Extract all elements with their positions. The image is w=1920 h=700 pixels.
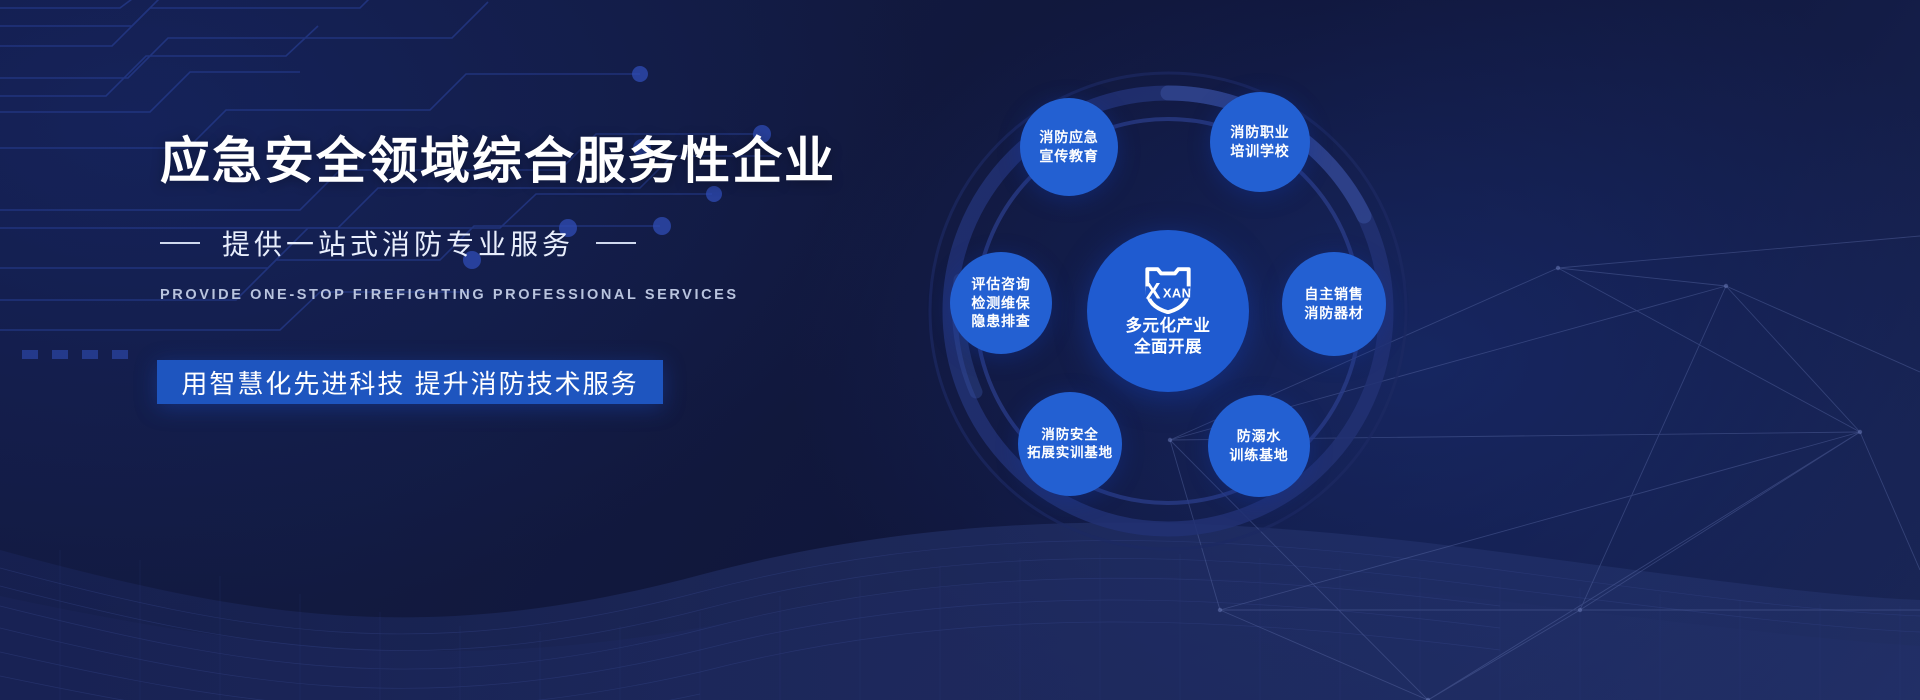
shield-xan-logo-icon: X XAN — [1140, 264, 1196, 314]
node-line-2: 检测维保 — [971, 294, 1030, 313]
node-equipment-sales[interactable]: 自主销售 消防器材 — [1282, 252, 1386, 356]
dash-left-icon — [160, 242, 200, 244]
node-line-1: 评估咨询 — [971, 275, 1030, 294]
node-anti-drowning-base[interactable]: 防溺水 训练基地 — [1208, 395, 1310, 497]
node-fire-safety-training-base[interactable]: 消防安全 拓展实训基地 — [1018, 392, 1122, 496]
node-fire-vocational-school[interactable]: 消防职业 培训学校 — [1210, 92, 1310, 192]
node-line-2: 拓展实训基地 — [1027, 444, 1113, 462]
node-line-2: 训练基地 — [1229, 446, 1288, 465]
hero-text-block: 应急安全领域综合服务性企业 提供一站式消防专业服务 PROVIDE ONE-ST… — [160, 130, 880, 303]
hub-line-1: 多元化产业 — [1126, 317, 1211, 337]
dash-right-icon — [596, 242, 636, 244]
node-line-2: 培训学校 — [1230, 142, 1289, 161]
node-line-3: 隐患排查 — [971, 312, 1030, 331]
node-line-1: 自主销售 — [1304, 285, 1363, 304]
hero-english-subtitle: PROVIDE ONE-STOP FIREFIGHTING PROFESSION… — [160, 287, 880, 303]
node-line-2: 宣传教育 — [1039, 147, 1098, 166]
node-line-1: 消防职业 — [1230, 123, 1289, 142]
node-line-2: 消防器材 — [1304, 304, 1363, 323]
node-fire-emergency-education[interactable]: 消防应急 宣传教育 — [1020, 98, 1118, 196]
subtitle-row: 提供一站式消防专业服务 — [160, 223, 880, 263]
service-wheel-diagram: X XAN 多元化产业 全面开展 消防应急 宣传教育 消防职业 培训学校 评估咨… — [920, 40, 1680, 660]
hero-banner: 应急安全领域综合服务性企业 提供一站式消防专业服务 PROVIDE ONE-ST… — [0, 0, 1920, 700]
svg-text:XAN: XAN — [1163, 286, 1192, 301]
diagram-hub[interactable]: X XAN 多元化产业 全面开展 — [1087, 230, 1249, 392]
node-line-1: 消防应急 — [1039, 128, 1098, 147]
svg-text:X: X — [1146, 279, 1161, 304]
cta-label: 用智慧化先进科技 提升消防技术服务 — [181, 364, 638, 401]
cta-banner-button[interactable]: 用智慧化先进科技 提升消防技术服务 — [157, 360, 663, 404]
node-line-1: 消防安全 — [1041, 426, 1098, 444]
hero-subtitle: 提供一站式消防专业服务 — [222, 223, 574, 263]
hub-line-2: 全面开展 — [1134, 338, 1202, 358]
node-line-1: 防溺水 — [1237, 427, 1281, 446]
page-title: 应急安全领域综合服务性企业 — [160, 130, 880, 193]
node-assessment-inspection[interactable]: 评估咨询 检测维保 隐患排查 — [950, 252, 1052, 354]
